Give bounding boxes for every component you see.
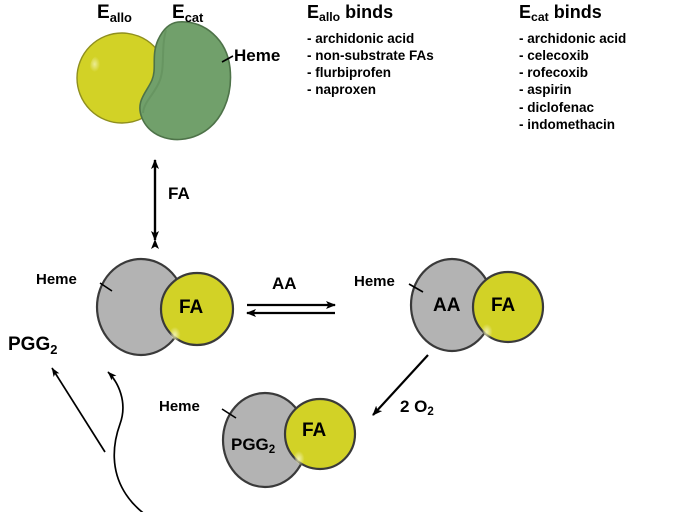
ecat-binds-list: Ecat binds - archidonic acid - celecoxib… xyxy=(519,2,626,133)
eallo-binds-title-sub: allo xyxy=(319,10,340,24)
ecat-label-base: E xyxy=(172,2,185,23)
pgg2-product-sub: 2 xyxy=(50,342,57,357)
pgg2-release-arrow xyxy=(52,368,105,452)
complex-fa-group xyxy=(97,259,233,355)
list-item: - naproxen xyxy=(307,81,434,98)
list-item: - diclofenac xyxy=(519,99,626,116)
eallo-binds-title-suffix: binds xyxy=(340,2,393,22)
aa-equilibrium-arrows xyxy=(247,305,335,313)
eallo-binds-list: Eallo binds - archidonic acid - non-subs… xyxy=(307,2,434,99)
heme-label-top: Heme xyxy=(234,47,280,65)
complex-aa-fa-group xyxy=(409,259,543,351)
eallo-sphere-highlight xyxy=(90,55,108,81)
list-item: - archidonic acid xyxy=(307,30,434,47)
aa-arrow-label: AA xyxy=(272,275,297,293)
ecat-green-bean xyxy=(140,22,231,140)
ecat-binds-title: Ecat binds xyxy=(519,2,626,23)
ecat-label: Ecat xyxy=(172,3,203,23)
list-item: - aspirin xyxy=(519,81,626,98)
list-item: - rofecoxib xyxy=(519,64,626,81)
complex-fa-yellow-highlight xyxy=(170,319,186,341)
recycle-curved-arrow xyxy=(108,372,205,512)
oxygen-label-base: 2 O xyxy=(400,397,427,416)
ecat-binds-title-suffix: binds xyxy=(549,2,602,22)
eallo-binds-items: - archidonic acid - non-substrate FAs - … xyxy=(307,30,434,99)
list-item: - celecoxib xyxy=(519,47,626,64)
ecat-label-sub: cat xyxy=(185,10,204,25)
eallo-label-sub: allo xyxy=(110,10,132,25)
fa-arrow-label: FA xyxy=(168,185,190,203)
list-item: - indomethacin xyxy=(519,116,626,133)
eallo-binds-title: Eallo binds xyxy=(307,2,434,23)
eallo-binds-title-base: E xyxy=(307,2,319,22)
complex-aa-yellow-highlight xyxy=(482,316,498,338)
pgg2-product-base: PGG xyxy=(8,334,50,355)
top-enzyme-group xyxy=(77,22,233,140)
oxygen-arrow-label: 2 O2 xyxy=(400,398,434,416)
heme-label-left-complex: Heme xyxy=(36,272,77,288)
complex-pgg2-fa-group xyxy=(222,393,355,487)
eallo-label-base: E xyxy=(97,2,110,23)
heme-label-bottom-complex: Heme xyxy=(159,399,200,415)
heme-label-right-complex: Heme xyxy=(354,274,395,290)
list-item: - non-substrate FAs xyxy=(307,47,434,64)
eallo-label: Eallo xyxy=(97,3,132,23)
ecat-binds-title-sub: cat xyxy=(531,10,549,24)
oxygen-label-sub: 2 xyxy=(427,406,433,418)
complex-pgg2-yellow-highlight xyxy=(294,443,310,465)
figure-canvas: Eallo Ecat Heme Eallo binds - archidonic… xyxy=(0,0,684,512)
list-item: - flurbiprofen xyxy=(307,64,434,81)
ecat-binds-title-base: E xyxy=(519,2,531,22)
pgg2-product-label: PGG2 xyxy=(8,335,57,355)
ecat-binds-items: - archidonic acid - celecoxib - rofecoxi… xyxy=(519,30,626,133)
list-item: - archidonic acid xyxy=(519,30,626,47)
